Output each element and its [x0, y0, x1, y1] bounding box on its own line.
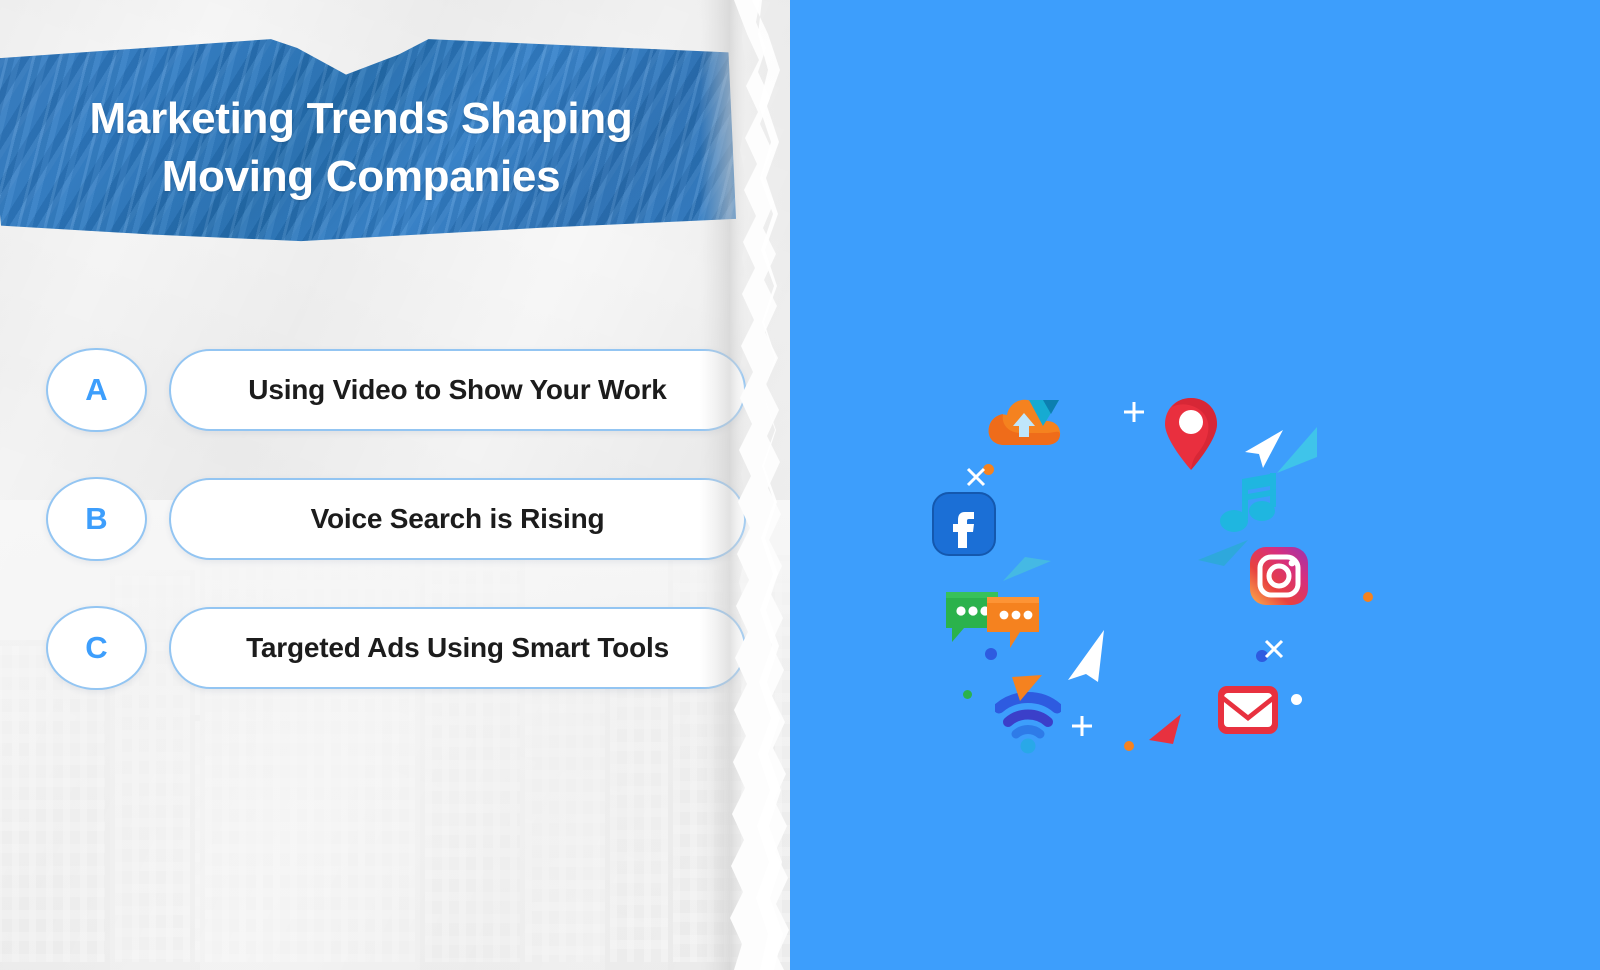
option-letter: B	[85, 501, 107, 537]
list-item[interactable]: C Targeted Ads Using Smart Tools	[46, 606, 746, 690]
option-badge-b[interactable]: B	[46, 477, 147, 561]
option-pill-c[interactable]: Targeted Ads Using Smart Tools	[169, 607, 746, 689]
slide-canvas: Marketing Trends Shaping Moving Companie…	[0, 0, 1600, 970]
page-title: Marketing Trends Shaping Moving Companie…	[0, 90, 736, 206]
option-label: Voice Search is Rising	[311, 503, 605, 535]
option-pill-b[interactable]: Voice Search is Rising	[169, 478, 746, 560]
option-letter: C	[85, 630, 107, 666]
trend-list: A Using Video to Show Your Work B Voice …	[46, 348, 746, 735]
option-label: Using Video to Show Your Work	[248, 374, 666, 406]
title-line-1: Marketing Trends Shaping	[20, 90, 702, 148]
option-label: Targeted Ads Using Smart Tools	[246, 632, 669, 664]
right-blue-panel	[760, 0, 1600, 970]
option-letter: A	[85, 372, 107, 408]
list-item[interactable]: B Voice Search is Rising	[46, 477, 746, 561]
option-badge-c[interactable]: C	[46, 606, 147, 690]
title-line-2: Moving Companies	[20, 148, 702, 206]
list-item[interactable]: A Using Video to Show Your Work	[46, 348, 746, 432]
option-pill-a[interactable]: Using Video to Show Your Work	[169, 349, 746, 431]
title-banner: Marketing Trends Shaping Moving Companie…	[0, 28, 736, 250]
option-badge-a[interactable]: A	[46, 348, 147, 432]
